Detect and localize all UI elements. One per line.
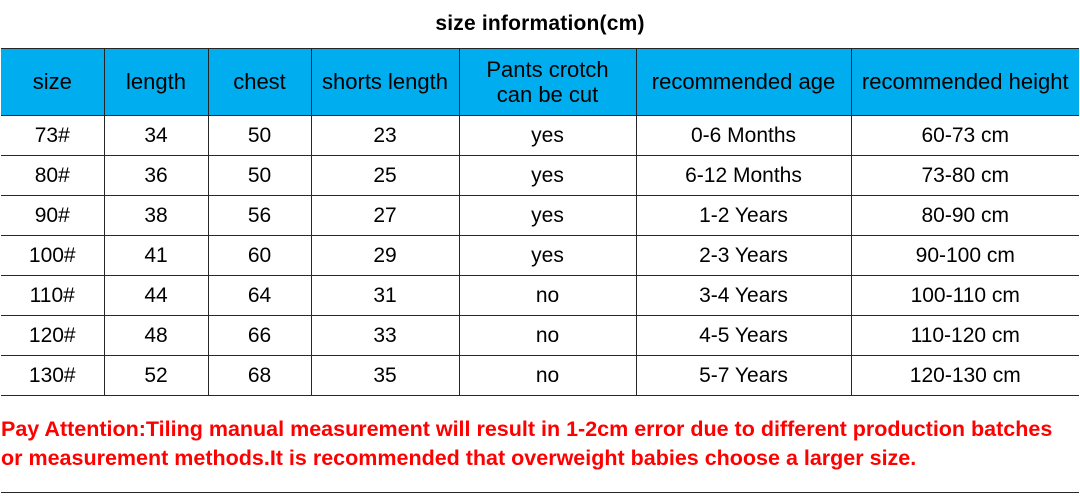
- cell-recommended-age: 5-7 Years: [636, 356, 851, 396]
- column-header-recommended-age: recommended age: [636, 49, 851, 116]
- cell-shorts-length: 31: [311, 276, 459, 316]
- cell-recommended-height: 100-110 cm: [851, 276, 1079, 316]
- column-header-pants-crotch-line2: can be cut: [497, 82, 599, 107]
- cell-recommended-height: 80-90 cm: [851, 196, 1079, 236]
- cell-crotch-can-be-cut: no: [459, 276, 636, 316]
- cell-size: 110#: [1, 276, 104, 316]
- cell-recommended-height: 120-130 cm: [851, 356, 1079, 396]
- cell-chest: 64: [208, 276, 311, 316]
- cell-shorts-length: 27: [311, 196, 459, 236]
- cell-size: 90#: [1, 196, 104, 236]
- cell-size: 120#: [1, 316, 104, 356]
- cell-chest: 66: [208, 316, 311, 356]
- cell-recommended-height: 110-120 cm: [851, 316, 1079, 356]
- cell-shorts-length: 29: [311, 236, 459, 276]
- note-row: Pay Attention:Tiling manual measurement …: [1, 396, 1079, 493]
- table-row: 100# 41 60 29 yes 2-3 Years 90-100 cm: [1, 236, 1079, 276]
- cell-crotch-can-be-cut: yes: [459, 156, 636, 196]
- table-row: 73# 34 50 23 yes 0-6 Months 60-73 cm: [1, 116, 1079, 156]
- table-row: 110# 44 64 31 no 3-4 Years 100-110 cm: [1, 276, 1079, 316]
- page-title: size information(cm): [1, 0, 1079, 49]
- cell-shorts-length: 33: [311, 316, 459, 356]
- cell-size: 73#: [1, 116, 104, 156]
- table-row: 120# 48 66 33 no 4-5 Years 110-120 cm: [1, 316, 1079, 356]
- cell-chest: 56: [208, 196, 311, 236]
- cell-shorts-length: 35: [311, 356, 459, 396]
- cell-length: 34: [104, 116, 208, 156]
- cell-length: 41: [104, 236, 208, 276]
- cell-length: 44: [104, 276, 208, 316]
- column-header-pants-crotch: Pants crotch can be cut: [459, 49, 636, 116]
- size-chart-sheet: size information(cm) size length chest s…: [0, 0, 1080, 500]
- column-header-size: size: [1, 49, 104, 116]
- cell-crotch-can-be-cut: yes: [459, 236, 636, 276]
- cell-recommended-height: 60-73 cm: [851, 116, 1079, 156]
- cell-length: 36: [104, 156, 208, 196]
- column-header-length: length: [104, 49, 208, 116]
- table-header-row: size length chest shorts length Pants cr…: [1, 49, 1079, 116]
- cell-length: 52: [104, 356, 208, 396]
- cell-recommended-age: 0-6 Months: [636, 116, 851, 156]
- cell-crotch-can-be-cut: no: [459, 356, 636, 396]
- cell-size: 80#: [1, 156, 104, 196]
- size-information-table: size information(cm) size length chest s…: [1, 0, 1079, 493]
- cell-size: 130#: [1, 356, 104, 396]
- cell-recommended-age: 3-4 Years: [636, 276, 851, 316]
- cell-crotch-can-be-cut: yes: [459, 196, 636, 236]
- cell-size: 100#: [1, 236, 104, 276]
- attention-note-text: Pay Attention:Tiling manual measurement …: [1, 415, 1079, 472]
- column-header-shorts-length: shorts length: [311, 49, 459, 116]
- cell-recommended-height: 73-80 cm: [851, 156, 1079, 196]
- cell-crotch-can-be-cut: yes: [459, 116, 636, 156]
- cell-recommended-age: 1-2 Years: [636, 196, 851, 236]
- cell-recommended-age: 2-3 Years: [636, 236, 851, 276]
- cell-chest: 68: [208, 356, 311, 396]
- cell-shorts-length: 25: [311, 156, 459, 196]
- table-row: 90# 38 56 27 yes 1-2 Years 80-90 cm: [1, 196, 1079, 236]
- cell-chest: 60: [208, 236, 311, 276]
- cell-chest: 50: [208, 116, 311, 156]
- cell-crotch-can-be-cut: no: [459, 316, 636, 356]
- column-header-chest: chest: [208, 49, 311, 116]
- attention-note: Pay Attention:Tiling manual measurement …: [1, 396, 1079, 493]
- title-row: size information(cm): [1, 0, 1079, 49]
- column-header-recommended-height: recommended height: [851, 49, 1079, 116]
- cell-chest: 50: [208, 156, 311, 196]
- table-row: 130# 52 68 35 no 5-7 Years 120-130 cm: [1, 356, 1079, 396]
- table-row: 80# 36 50 25 yes 6-12 Months 73-80 cm: [1, 156, 1079, 196]
- column-header-pants-crotch-line1: Pants crotch: [486, 57, 608, 82]
- cell-recommended-age: 4-5 Years: [636, 316, 851, 356]
- cell-length: 48: [104, 316, 208, 356]
- cell-recommended-age: 6-12 Months: [636, 156, 851, 196]
- cell-length: 38: [104, 196, 208, 236]
- cell-recommended-height: 90-100 cm: [851, 236, 1079, 276]
- cell-shorts-length: 23: [311, 116, 459, 156]
